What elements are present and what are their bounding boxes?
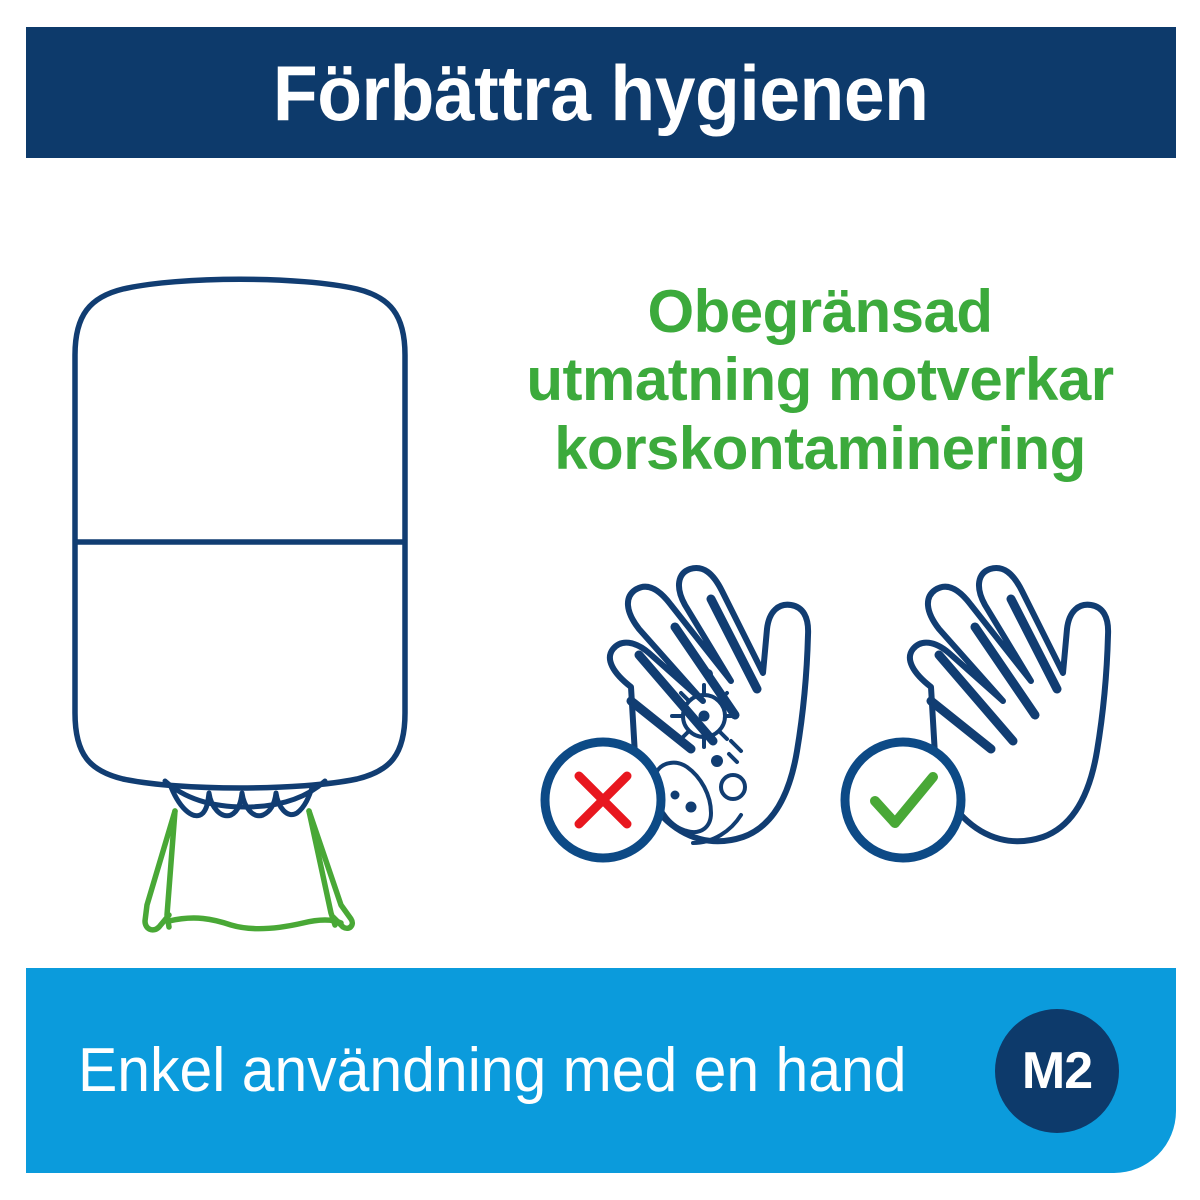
poster-root: Förbättra hygienen [0, 0, 1200, 1200]
headline-block: Obegränsad utmatning motverkar korskonta… [470, 278, 1170, 483]
headline-line-2: utmatning motverkar [470, 346, 1170, 414]
header-bar: Förbättra hygienen [26, 27, 1176, 158]
format-badge: M2 [995, 1009, 1119, 1133]
main-illustration-area: Obegränsad utmatning motverkar korskonta… [0, 160, 1200, 960]
hands-illustration [535, 555, 1185, 895]
dispenser-icon [45, 215, 465, 935]
page-title: Förbättra hygienen [273, 54, 929, 132]
clean-hand-icon [845, 568, 1108, 858]
format-badge-label: M2 [1022, 1045, 1092, 1097]
footer-bar: Enkel användning med en hand M2 [26, 968, 1176, 1173]
footer-caption: Enkel användning med en hand [78, 1040, 907, 1102]
cross-badge [545, 742, 661, 858]
headline-line-3: korskontaminering [470, 415, 1170, 483]
dispenser-illustration [45, 215, 465, 935]
headline-line-1: Obegränsad [470, 278, 1170, 346]
check-badge [845, 742, 961, 858]
dirty-hand-icon [545, 568, 808, 858]
